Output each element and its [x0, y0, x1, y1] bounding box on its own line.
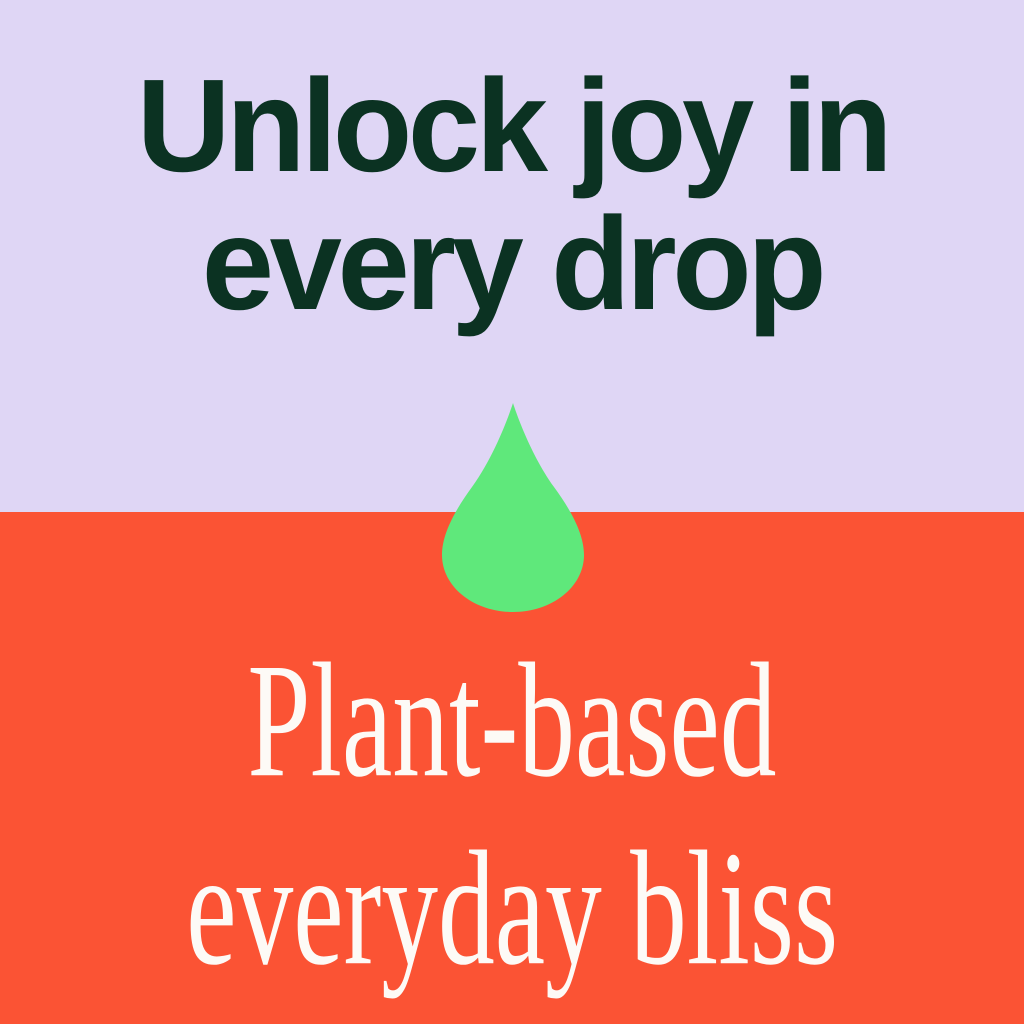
subhead-line-2: everyday bliss [186, 828, 838, 992]
promo-poster: Unlock joy in every drop Plant-based eve… [0, 0, 1024, 1024]
headline-line-1: Unlock joy in [136, 62, 888, 190]
water-droplet-icon [442, 403, 584, 613]
headline-line-2: every drop [202, 200, 823, 328]
subhead-line-1: Plant-based [247, 640, 776, 804]
subhead-block: Plant-based everyday bliss [0, 640, 1024, 954]
headline-block: Unlock joy in every drop [0, 0, 1024, 400]
